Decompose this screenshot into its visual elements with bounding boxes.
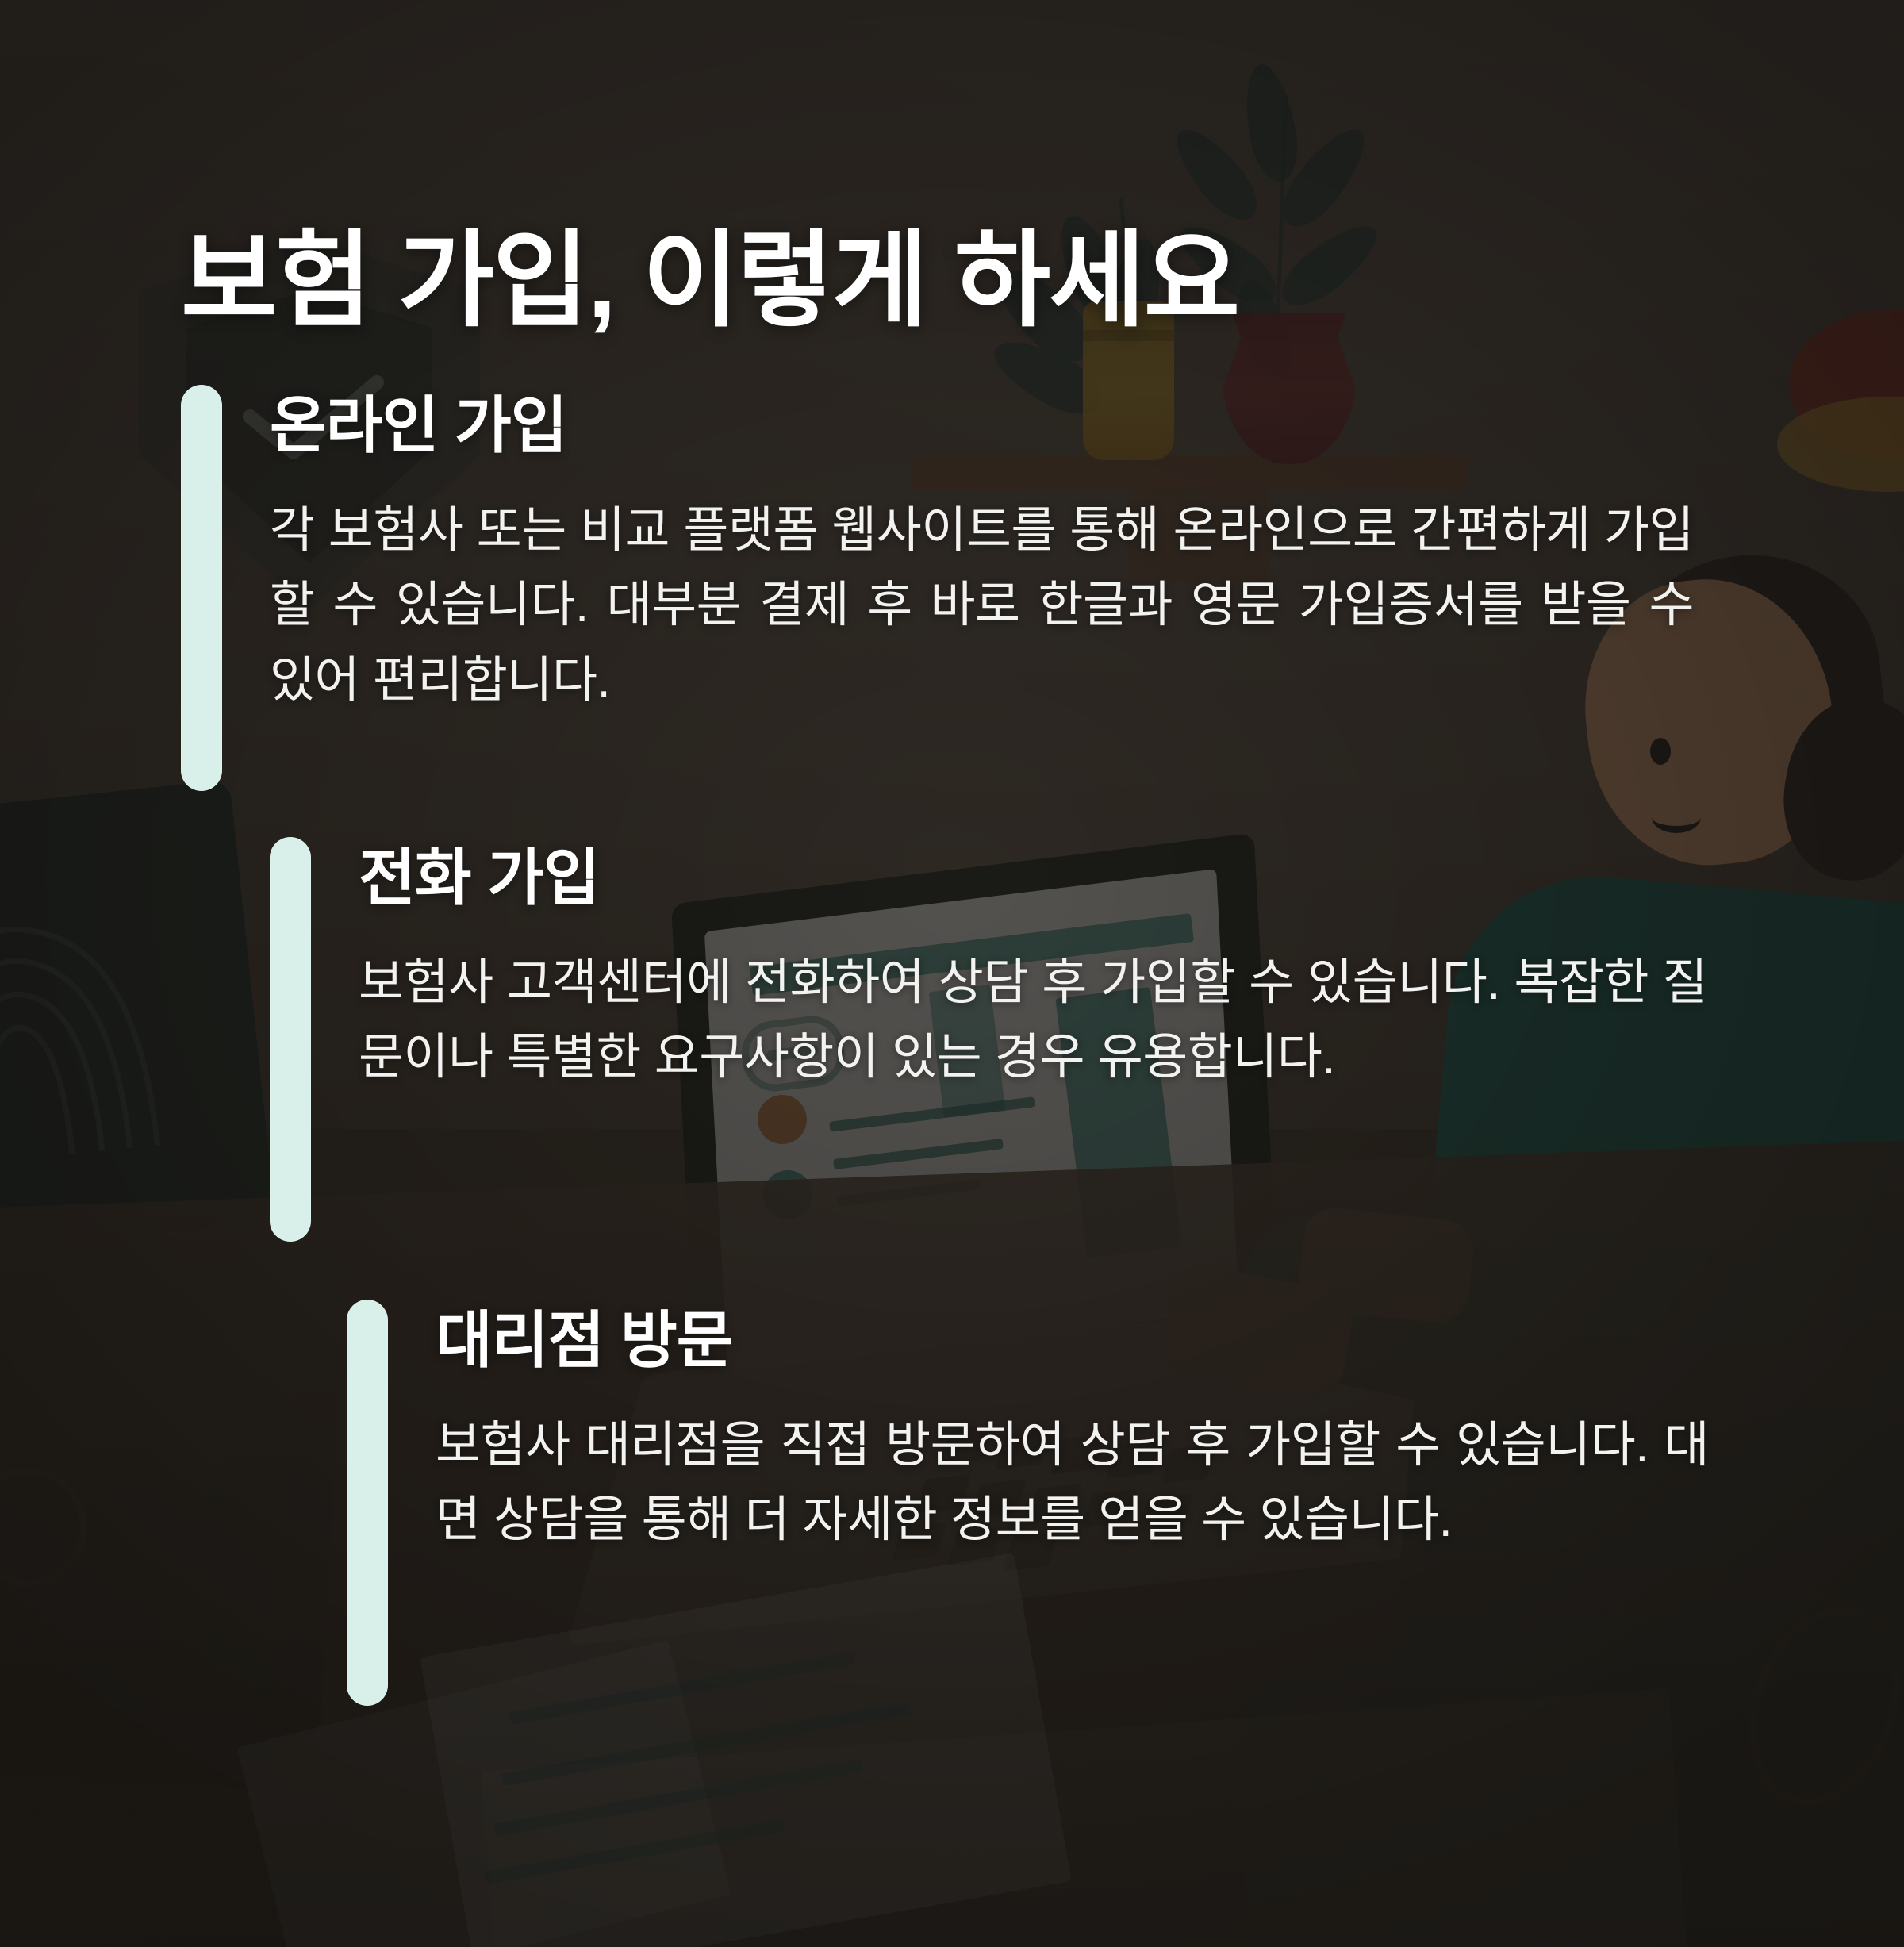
accent-bar xyxy=(270,837,311,1242)
accent-bar xyxy=(347,1300,388,1706)
section-body: 온라인 가입 각 보험사 또는 비교 플랫폼 웹사이트를 통해 온라인으로 간편… xyxy=(222,385,1736,791)
section-text-online: 각 보험사 또는 비교 플랫폼 웹사이트를 통해 온라인으로 간편하게 가입할 … xyxy=(270,493,1694,718)
page-title: 보험 가입, 이렇게 하세요 xyxy=(181,222,1238,340)
card-content: 보험 가입, 이렇게 하세요 온라인 가입 각 보험사 또는 비교 플랫폼 웹사… xyxy=(0,0,1904,1947)
section-text-agency: 보험사 대리점을 직접 방문하여 상담 후 가입할 수 있습니다. 대면 상담을… xyxy=(436,1408,1709,1557)
section-agency-visit: 대리점 방문 보험사 대리점을 직접 방문하여 상담 후 가입할 수 있습니다.… xyxy=(347,1300,1787,1706)
section-online-signup: 온라인 가입 각 보험사 또는 비교 플랫폼 웹사이트를 통해 온라인으로 간편… xyxy=(181,385,1736,791)
section-phone-signup: 전화 가입 보험사 고객센터에 전화하여 상담 후 가입할 수 있습니다. 복잡… xyxy=(270,837,1785,1242)
section-text-phone: 보험사 고객센터에 전화하여 상담 후 가입할 수 있습니다. 복잡한 질문이나… xyxy=(359,946,1707,1095)
section-body: 대리점 방문 보험사 대리점을 직접 방문하여 상담 후 가입할 수 있습니다.… xyxy=(388,1300,1787,1706)
section-body: 전화 가입 보험사 고객센터에 전화하여 상담 후 가입할 수 있습니다. 복잡… xyxy=(311,837,1785,1242)
infographic-card: 보험 가입, 이렇게 하세요 온라인 가입 각 보험사 또는 비교 플랫폼 웹사… xyxy=(0,0,1904,1947)
section-heading-agency: 대리점 방문 xyxy=(436,1303,1787,1378)
section-heading-online: 온라인 가입 xyxy=(270,388,1736,463)
accent-bar xyxy=(181,385,222,791)
section-heading-phone: 전화 가입 xyxy=(359,840,1785,916)
